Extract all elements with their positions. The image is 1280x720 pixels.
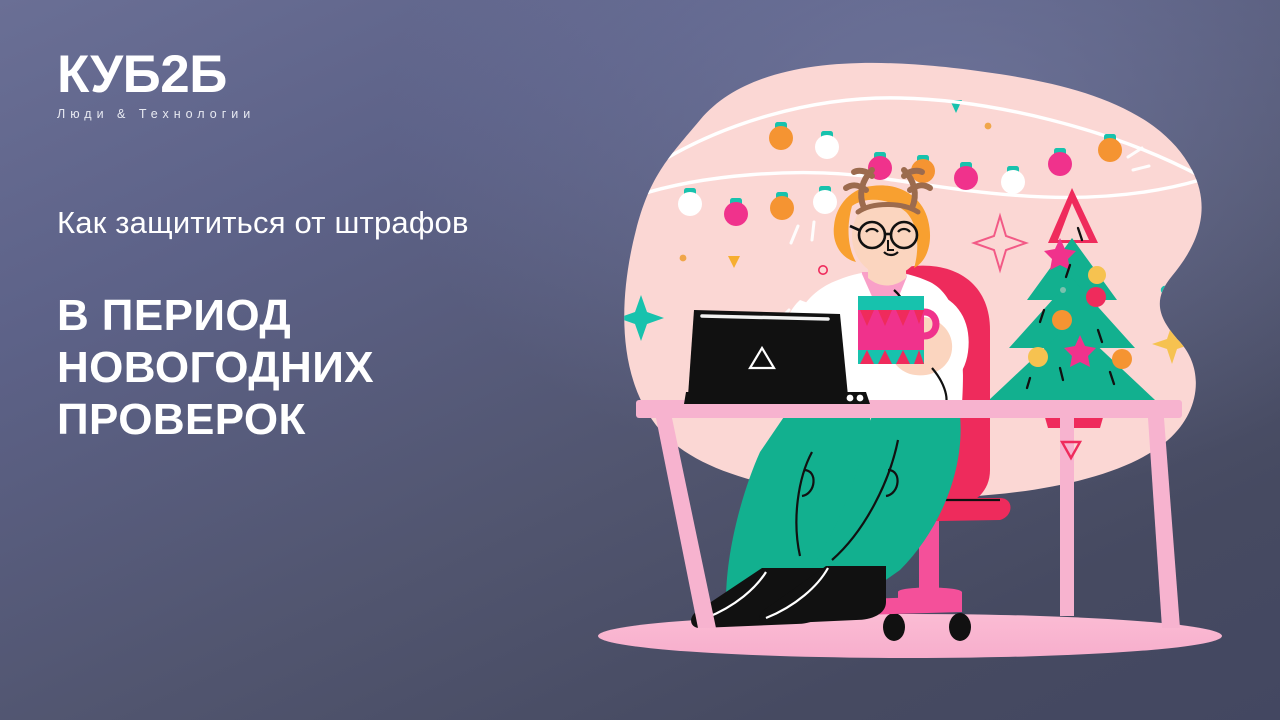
brand-tagline: Люди & Технологии	[57, 107, 255, 121]
brand-logo[interactable]: КУБ2Б Люди & Технологии	[57, 48, 255, 121]
slide-canvas: КУБ2Б Люди & Технологии Как защититься о…	[0, 0, 1280, 720]
headline-line-3: ПРОВЕРОК	[57, 394, 374, 446]
slide-kicker: Как защититься от штрафов	[57, 205, 469, 241]
headline-line-2: НОВОГОДНИХ	[57, 342, 374, 394]
slide-headline: В ПЕРИОД НОВОГОДНИХ ПРОВЕРОК	[57, 290, 374, 446]
headline-line-1: В ПЕРИОД	[57, 290, 374, 342]
brand-name: КУБ2Б	[57, 48, 255, 101]
